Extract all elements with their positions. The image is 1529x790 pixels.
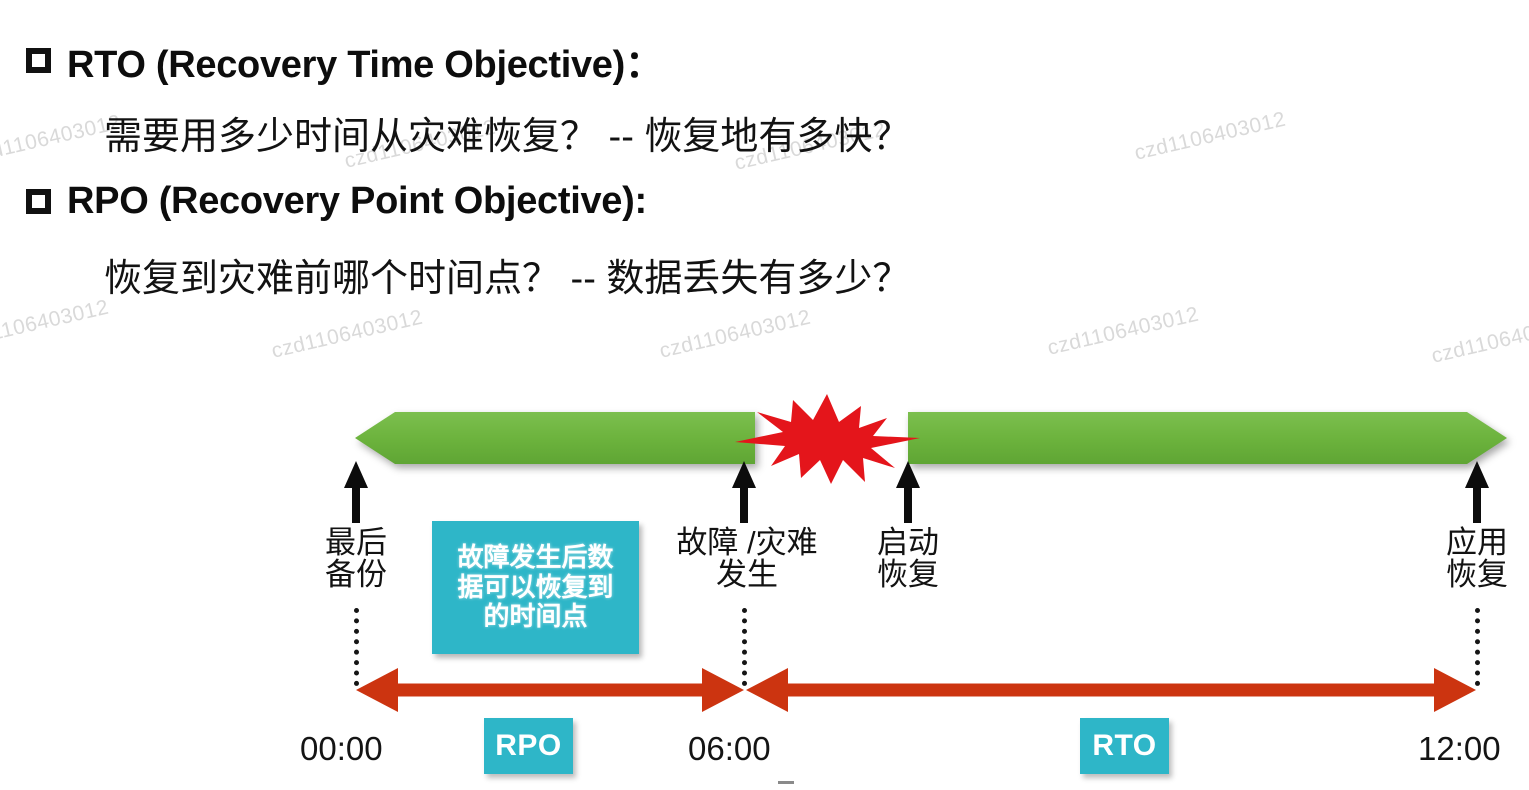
marker-label-app-recovered: 应用 恢复 [1417,527,1529,591]
rto-badge: RTO [1080,718,1169,774]
marker-label-start-recovery: 启动 恢复 [848,527,968,591]
body-rto: 需要用多少时间从灾难恢复？ -- 恢复地有多快？ [104,105,910,160]
heading-rto-label: RTO (Recovery Time Objective)： [67,33,663,88]
explosion-starburst-icon [735,392,920,484]
rto-badge-label: RTO [1092,729,1156,763]
square-bullet-icon [26,189,51,214]
heading-rpo-label: RPO (Recovery Point Objective): [67,180,647,223]
heading-rto: RTO (Recovery Time Objective)： [26,33,663,88]
body-rpo: 恢复到灾难前哪个时间点？ -- 数据丢失有多少？ [104,247,910,302]
rpo-badge-label: RPO [495,729,562,763]
green-timeline-arrow [355,412,1507,464]
rto-span-arrow [746,668,1476,712]
heading-rpo: RPO (Recovery Point Objective): [26,180,647,223]
time-label-end: 12:00 [1418,730,1501,768]
marker-arrow-app-recovered [1464,461,1490,523]
square-bullet-icon [26,48,51,73]
time-label-start: 00:00 [300,730,383,768]
time-label-incident: 06:00 [688,730,771,768]
green-arrow-left-segment [355,412,755,464]
marker-arrow-last-backup [343,461,369,523]
marker-label-failure: 故障 /灾难 发生 [664,527,830,591]
rpo-callout-text: 故障发生后数 据可以恢复到 的时间点 [457,543,613,631]
rpo-callout-box: 故障发生后数 据可以恢复到 的时间点 [432,521,639,654]
rpo-span-arrow [356,668,744,712]
green-arrow-right-segment [908,412,1507,464]
slide-canvas: czd1106403012 czd1106403012 czd110640301… [0,0,1529,790]
marker-arrow-start-recovery [895,461,921,523]
axis-tick-mark [778,781,794,784]
rpo-badge: RPO [484,718,573,774]
marker-label-last-backup: 最后 备份 [296,527,416,591]
measure-arrows [0,660,1529,730]
marker-arrow-failure [731,461,757,523]
